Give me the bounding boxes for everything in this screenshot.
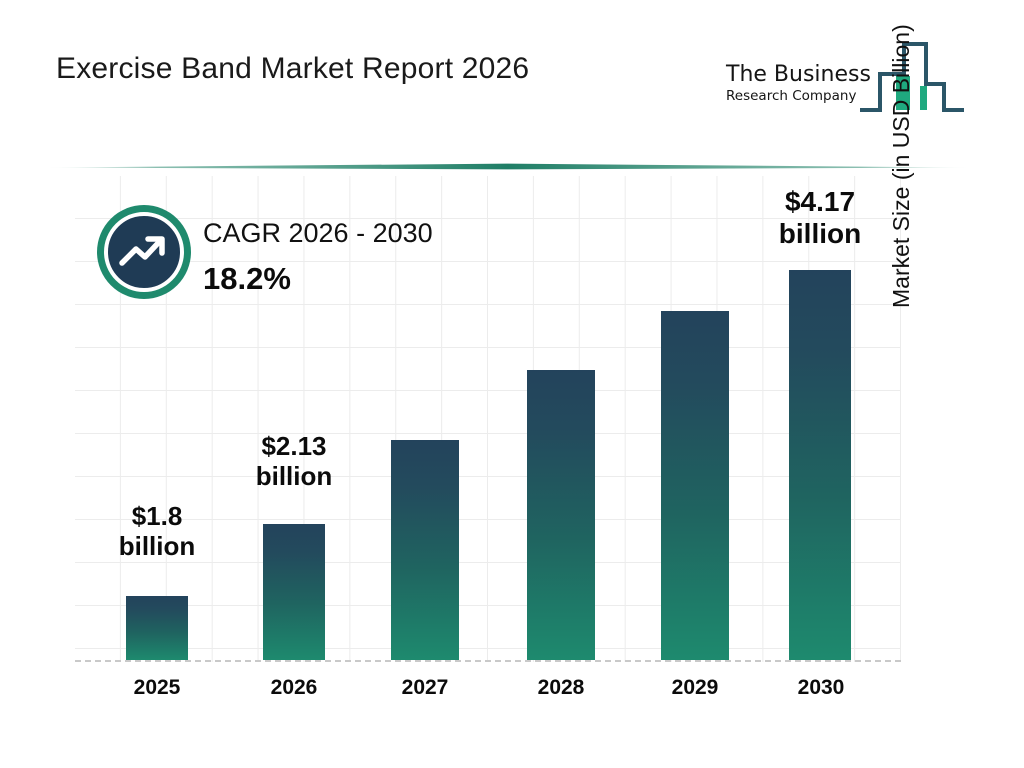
cagr-value: 18.2%	[203, 261, 433, 297]
bar-value-amount-2025: $1.8	[97, 502, 217, 532]
bar-value-label-2030: $4.17 billion	[755, 186, 885, 250]
bar-value-label-2026: $2.13 billion	[228, 432, 360, 492]
bar-value-unit-2030: billion	[755, 218, 885, 250]
cagr-period-label: CAGR 2026 - 2030	[203, 218, 433, 249]
bar-value-amount-2030: $4.17	[755, 186, 885, 218]
cagr-badge	[97, 205, 191, 299]
cagr-annotation: CAGR 2026 - 2030 18.2%	[203, 218, 433, 297]
trending-up-arrow-icon	[104, 212, 184, 292]
company-logo: The Business Research Company	[726, 32, 966, 124]
bar-2028	[527, 370, 595, 660]
x-tick-2027: 2027	[365, 676, 485, 700]
bar-value-label-2025: $1.8 billion	[97, 502, 217, 562]
x-tick-2026: 2026	[234, 676, 354, 700]
bar-value-unit-2026: billion	[228, 462, 360, 492]
x-tick-2028: 2028	[501, 676, 621, 700]
bar-value-amount-2026: $2.13	[228, 432, 360, 462]
bar-2025	[126, 596, 188, 660]
chart-page: Exercise Band Market Report 2026 The Bus…	[0, 0, 1024, 768]
logo-line-2: Research Company	[726, 88, 876, 104]
logo-wordmark: The Business Research Company	[726, 62, 876, 104]
bar-2027	[391, 440, 459, 660]
x-tick-2025: 2025	[97, 676, 217, 700]
bar-2026	[263, 524, 325, 660]
section-divider	[45, 158, 970, 166]
x-tick-2029: 2029	[635, 676, 755, 700]
axis-baseline	[75, 660, 901, 662]
bar-2030	[789, 270, 851, 660]
bar-value-unit-2025: billion	[97, 532, 217, 562]
x-tick-2030: 2030	[761, 676, 881, 700]
logo-line-1: The Business	[726, 62, 876, 87]
bar-2029	[661, 311, 729, 660]
page-title: Exercise Band Market Report 2026	[56, 52, 529, 86]
y-axis-title: Market Size (in USD Billion)	[888, 0, 928, 308]
